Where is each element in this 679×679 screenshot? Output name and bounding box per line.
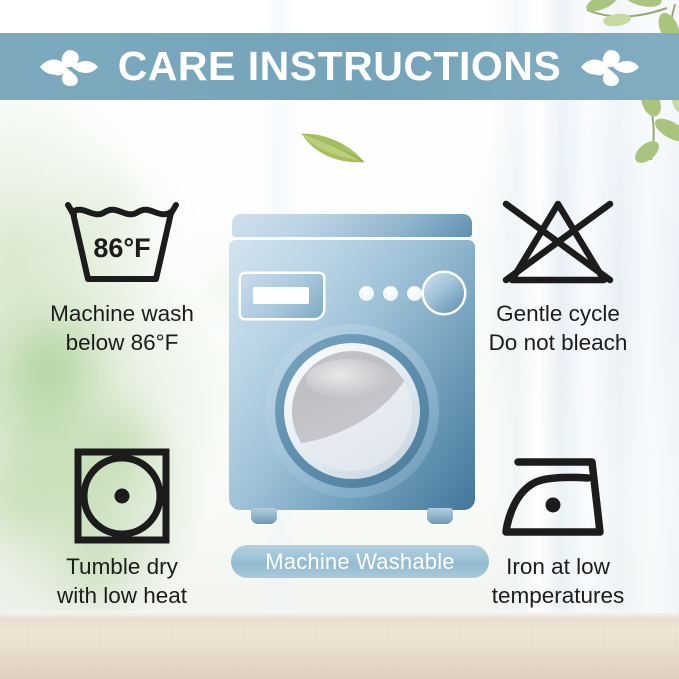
care-symbol-caption: Machine wash below 86°F <box>22 300 222 357</box>
triangle-crossed-out-icon <box>496 195 620 291</box>
machine-washable-badge: Machine Washable <box>231 545 489 578</box>
iron-one-dot-icon <box>496 448 620 544</box>
detergent-drawer-slot <box>253 287 309 304</box>
header-banner: CARE INSTRUCTIONS <box>0 33 679 100</box>
control-button <box>383 286 398 301</box>
wash-tub-icon-wrap: 86°F <box>22 190 222 296</box>
care-symbol-caption: Gentle cycle Do not bleach <box>458 300 658 357</box>
washing-machine-foot <box>251 508 277 524</box>
care-symbol-machine-wash: 86°F Machine wash below 86°F <box>22 190 222 357</box>
fleur-de-lis-icon <box>579 46 641 88</box>
tumble-dry-one-dot-icon <box>70 446 174 546</box>
care-symbol-tumble-dry-low: Tumble dry with low heat <box>22 443 222 610</box>
care-instructions-graphic: CARE INSTRUCTIONS 86°F Machine wash belo… <box>0 0 679 679</box>
care-symbol-iron-low: Iron at low temperatures <box>458 443 658 610</box>
control-buttons <box>359 286 422 301</box>
iron-one-dot-icon-wrap <box>458 443 658 549</box>
washing-machine-illustration <box>229 214 475 536</box>
tumble-dry-one-dot-icon-wrap <box>22 443 222 549</box>
wash-temperature-label: 86°F <box>93 233 150 263</box>
control-button <box>359 286 374 301</box>
control-dial <box>424 273 464 313</box>
wash-tub-icon: 86°F <box>60 195 184 291</box>
floating-leaf-icon <box>299 124 367 166</box>
door-glass <box>292 351 412 471</box>
page-title: CARE INSTRUCTIONS <box>118 43 562 90</box>
washing-machine-top-lid <box>232 214 472 237</box>
background-wood-grain <box>0 613 679 679</box>
control-button <box>407 286 422 301</box>
care-symbol-do-not-bleach: Gentle cycle Do not bleach <box>458 190 658 357</box>
washing-machine-body <box>229 240 475 510</box>
background-wood-edge-highlight <box>0 612 679 619</box>
badge-label: Machine Washable <box>265 549 454 575</box>
triangle-crossed-out-icon-wrap <box>458 190 658 296</box>
washing-machine-foot <box>427 508 453 524</box>
fleur-de-lis-icon <box>38 46 100 88</box>
door-glass-highlight <box>306 359 392 399</box>
care-symbol-caption: Tumble dry with low heat <box>22 553 222 610</box>
detergent-drawer <box>241 274 323 318</box>
